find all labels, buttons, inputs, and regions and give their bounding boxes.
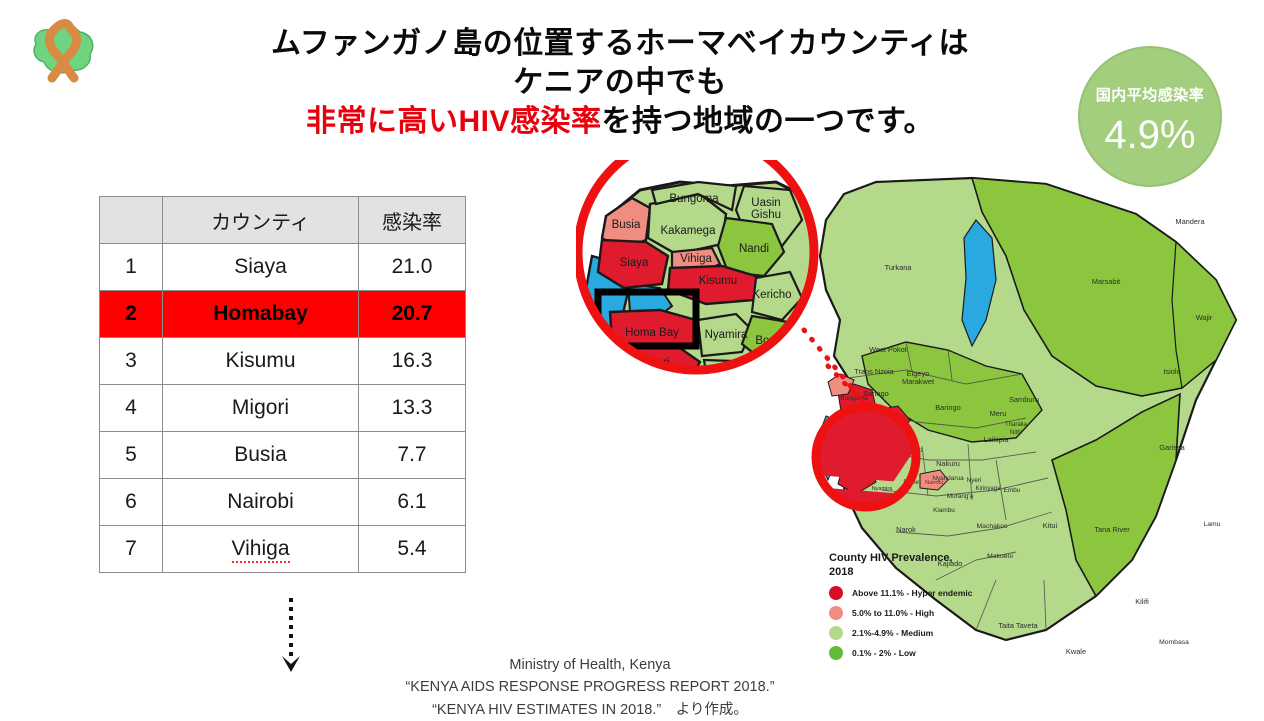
cell-county: Siaya bbox=[163, 244, 359, 291]
title-line-3: 非常に高いHIV感染率を持つ地域の一つです。 bbox=[215, 102, 1025, 141]
svg-text:Siaya: Siaya bbox=[620, 257, 649, 269]
svg-text:Nakuru: Nakuru bbox=[936, 459, 960, 468]
title-highlight: 非常に高いHIV感染率 bbox=[306, 105, 602, 138]
svg-text:Kericho: Kericho bbox=[753, 289, 792, 301]
title-line-2: ケニアの中でも bbox=[215, 63, 1025, 102]
badge-value: 4.9% bbox=[1104, 115, 1195, 155]
svg-text:Lamu: Lamu bbox=[1203, 521, 1220, 528]
cell-county-text: Vihiga bbox=[232, 537, 290, 563]
table-row: 3 Kisumu 16.3 bbox=[100, 338, 466, 385]
cell-rank: 7 bbox=[100, 526, 163, 573]
svg-text:Tana River: Tana River bbox=[1094, 525, 1130, 534]
svg-text:Wajir: Wajir bbox=[1196, 313, 1213, 322]
svg-text:Kisumu: Kisumu bbox=[699, 275, 737, 287]
slide: ムファンガノ島の位置するホーマベイカウンティは ケニアの中でも 非常に高いHIV… bbox=[0, 0, 1264, 719]
svg-text:Samburu: Samburu bbox=[1009, 395, 1039, 404]
legend-swatch-icon bbox=[829, 606, 843, 620]
cell-county: Homabay bbox=[163, 291, 359, 338]
table-row: 6 Nairobi 6.1 bbox=[100, 479, 466, 526]
svg-text:Busia: Busia bbox=[612, 219, 641, 231]
legend-title-line-2: 2018 bbox=[829, 566, 994, 580]
svg-text:Meru: Meru bbox=[990, 409, 1007, 418]
cell-rank: 2 bbox=[100, 291, 163, 338]
svg-text:Trans Nzoia: Trans Nzoia bbox=[854, 367, 894, 376]
header-county: カウンティ bbox=[163, 197, 359, 244]
cell-county: Migori bbox=[163, 385, 359, 432]
cell-rank: 4 bbox=[100, 385, 163, 432]
table-row-highlighted: 2 Homabay 20.7 bbox=[100, 291, 466, 338]
map-magnified-inset: Bungoma Busia Kakamega Uasin Gishu Siaya… bbox=[578, 160, 820, 401]
svg-text:Uasin: Uasin bbox=[751, 197, 780, 209]
awareness-ribbon-island-logo bbox=[18, 10, 106, 90]
table-header-row: カウンティ 感染率 bbox=[100, 197, 466, 244]
svg-text:Turkana: Turkana bbox=[885, 263, 913, 272]
svg-text:Nyamira: Nyamira bbox=[705, 329, 748, 341]
svg-text:Tharaka: Tharaka bbox=[1005, 422, 1028, 428]
legend-swatch-icon bbox=[829, 646, 843, 660]
svg-text:Garissa: Garissa bbox=[1159, 443, 1185, 452]
cell-county: Nairobi bbox=[163, 479, 359, 526]
svg-text:Isiolo: Isiolo bbox=[1163, 367, 1180, 376]
cell-county: Vihiga bbox=[163, 526, 359, 573]
cell-rate: 21.0 bbox=[359, 244, 466, 291]
svg-text:Nairobi: Nairobi bbox=[925, 480, 943, 486]
svg-text:Nandi: Nandi bbox=[739, 243, 769, 255]
legend-label: 5.0% to 11.0% - High bbox=[852, 608, 934, 618]
legend-label: 2.1%-4.9% - Medium bbox=[852, 628, 933, 638]
svg-text:Nyamira: Nyamira bbox=[872, 486, 894, 492]
cell-rank: 6 bbox=[100, 479, 163, 526]
svg-text:Taita Taveta: Taita Taveta bbox=[998, 621, 1038, 630]
svg-text:Nithi: Nithi bbox=[1010, 430, 1022, 436]
svg-text:Kilifi: Kilifi bbox=[1135, 597, 1149, 606]
svg-text:Kitui: Kitui bbox=[1043, 521, 1058, 530]
table-row: 1 Siaya 21.0 bbox=[100, 244, 466, 291]
legend-item: 0.1% - 2% - Low bbox=[829, 646, 994, 660]
svg-text:Homa Bay: Homa Bay bbox=[625, 327, 679, 339]
prevalence-table: カウンティ 感染率 1 Siaya 21.0 2 Homabay 20.7 3 … bbox=[99, 196, 466, 573]
table-row: 7 Vihiga 5.4 bbox=[100, 526, 466, 573]
svg-text:Kwale: Kwale bbox=[1066, 647, 1086, 656]
cell-rank: 5 bbox=[100, 432, 163, 479]
title-line-3-rest: を持つ地域の一つです。 bbox=[602, 105, 935, 138]
cell-rate: 16.3 bbox=[359, 338, 466, 385]
title-line-1: ムファンガノ島の位置するホーマベイカウンティは bbox=[215, 24, 1025, 63]
svg-text:Marsabit: Marsabit bbox=[1092, 277, 1120, 286]
svg-text:Kiambu: Kiambu bbox=[933, 507, 955, 514]
svg-text:West Pokot: West Pokot bbox=[869, 345, 907, 354]
svg-text:Murang'a: Murang'a bbox=[947, 493, 974, 500]
svg-text:Machakos: Machakos bbox=[977, 523, 1009, 530]
map-legend: County HIV Prevalence, 2018 Above 11.1% … bbox=[829, 552, 994, 660]
citation-line-3: “KENYA HIV ESTIMATES IN 2018.” より作成。 bbox=[370, 699, 810, 721]
page-title: ムファンガノ島の位置するホーマベイカウンティは ケニアの中でも 非常に高いHIV… bbox=[215, 24, 1025, 141]
svg-text:Marakwet: Marakwet bbox=[902, 377, 934, 386]
legend-swatch-icon bbox=[829, 586, 843, 600]
legend-label: 0.1% - 2% - Low bbox=[852, 648, 916, 658]
svg-text:Kirinyaga: Kirinyaga bbox=[975, 486, 1001, 492]
svg-text:Bungoma: Bungoma bbox=[669, 193, 719, 205]
legend-title-line-1: County HIV Prevalence, bbox=[829, 552, 994, 566]
table-row: 5 Busia 7.7 bbox=[100, 432, 466, 479]
legend-item: Above 11.1% - Hyper endemic bbox=[829, 586, 994, 600]
legend-item: 5.0% to 11.0% - High bbox=[829, 606, 994, 620]
cell-rate: 13.3 bbox=[359, 385, 466, 432]
svg-text:Kakamega: Kakamega bbox=[661, 225, 717, 237]
cell-rank: 1 bbox=[100, 244, 163, 291]
svg-text:Mandera: Mandera bbox=[1175, 217, 1205, 226]
header-rank bbox=[100, 197, 163, 244]
svg-text:Embu: Embu bbox=[1004, 487, 1021, 494]
svg-text:Laikipia: Laikipia bbox=[983, 435, 1009, 444]
svg-text:Gishu: Gishu bbox=[751, 209, 781, 221]
svg-text:Mombasa: Mombasa bbox=[1159, 639, 1189, 646]
legend-title: County HIV Prevalence, 2018 bbox=[829, 552, 994, 580]
svg-text:Na: Na bbox=[765, 389, 780, 401]
legend-label: Above 11.1% - Hyper endemic bbox=[852, 588, 972, 598]
cell-rate: 6.1 bbox=[359, 479, 466, 526]
cell-county: Kisumu bbox=[163, 338, 359, 385]
citation-line-2: “KENYA AIDS RESPONSE PROGRESS REPORT 201… bbox=[370, 676, 810, 698]
cell-rate: 7.7 bbox=[359, 432, 466, 479]
legend-item: 2.1%-4.9% - Medium bbox=[829, 626, 994, 640]
dotted-down-arrow-icon bbox=[276, 596, 306, 676]
table-row: 4 Migori 13.3 bbox=[100, 385, 466, 432]
legend-swatch-icon bbox=[829, 626, 843, 640]
header-rate: 感染率 bbox=[359, 197, 466, 244]
badge-label: 国内平均感染率 bbox=[1096, 84, 1205, 105]
svg-text:Baringo: Baringo bbox=[935, 403, 960, 412]
cell-county: Busia bbox=[163, 432, 359, 479]
svg-text:Nyeri: Nyeri bbox=[967, 477, 982, 484]
cell-rank: 3 bbox=[100, 338, 163, 385]
cell-rate: 5.4 bbox=[359, 526, 466, 573]
svg-text:Vihiga: Vihiga bbox=[680, 253, 712, 265]
svg-text:Narok: Narok bbox=[896, 525, 916, 534]
cell-rate: 20.7 bbox=[359, 291, 466, 338]
